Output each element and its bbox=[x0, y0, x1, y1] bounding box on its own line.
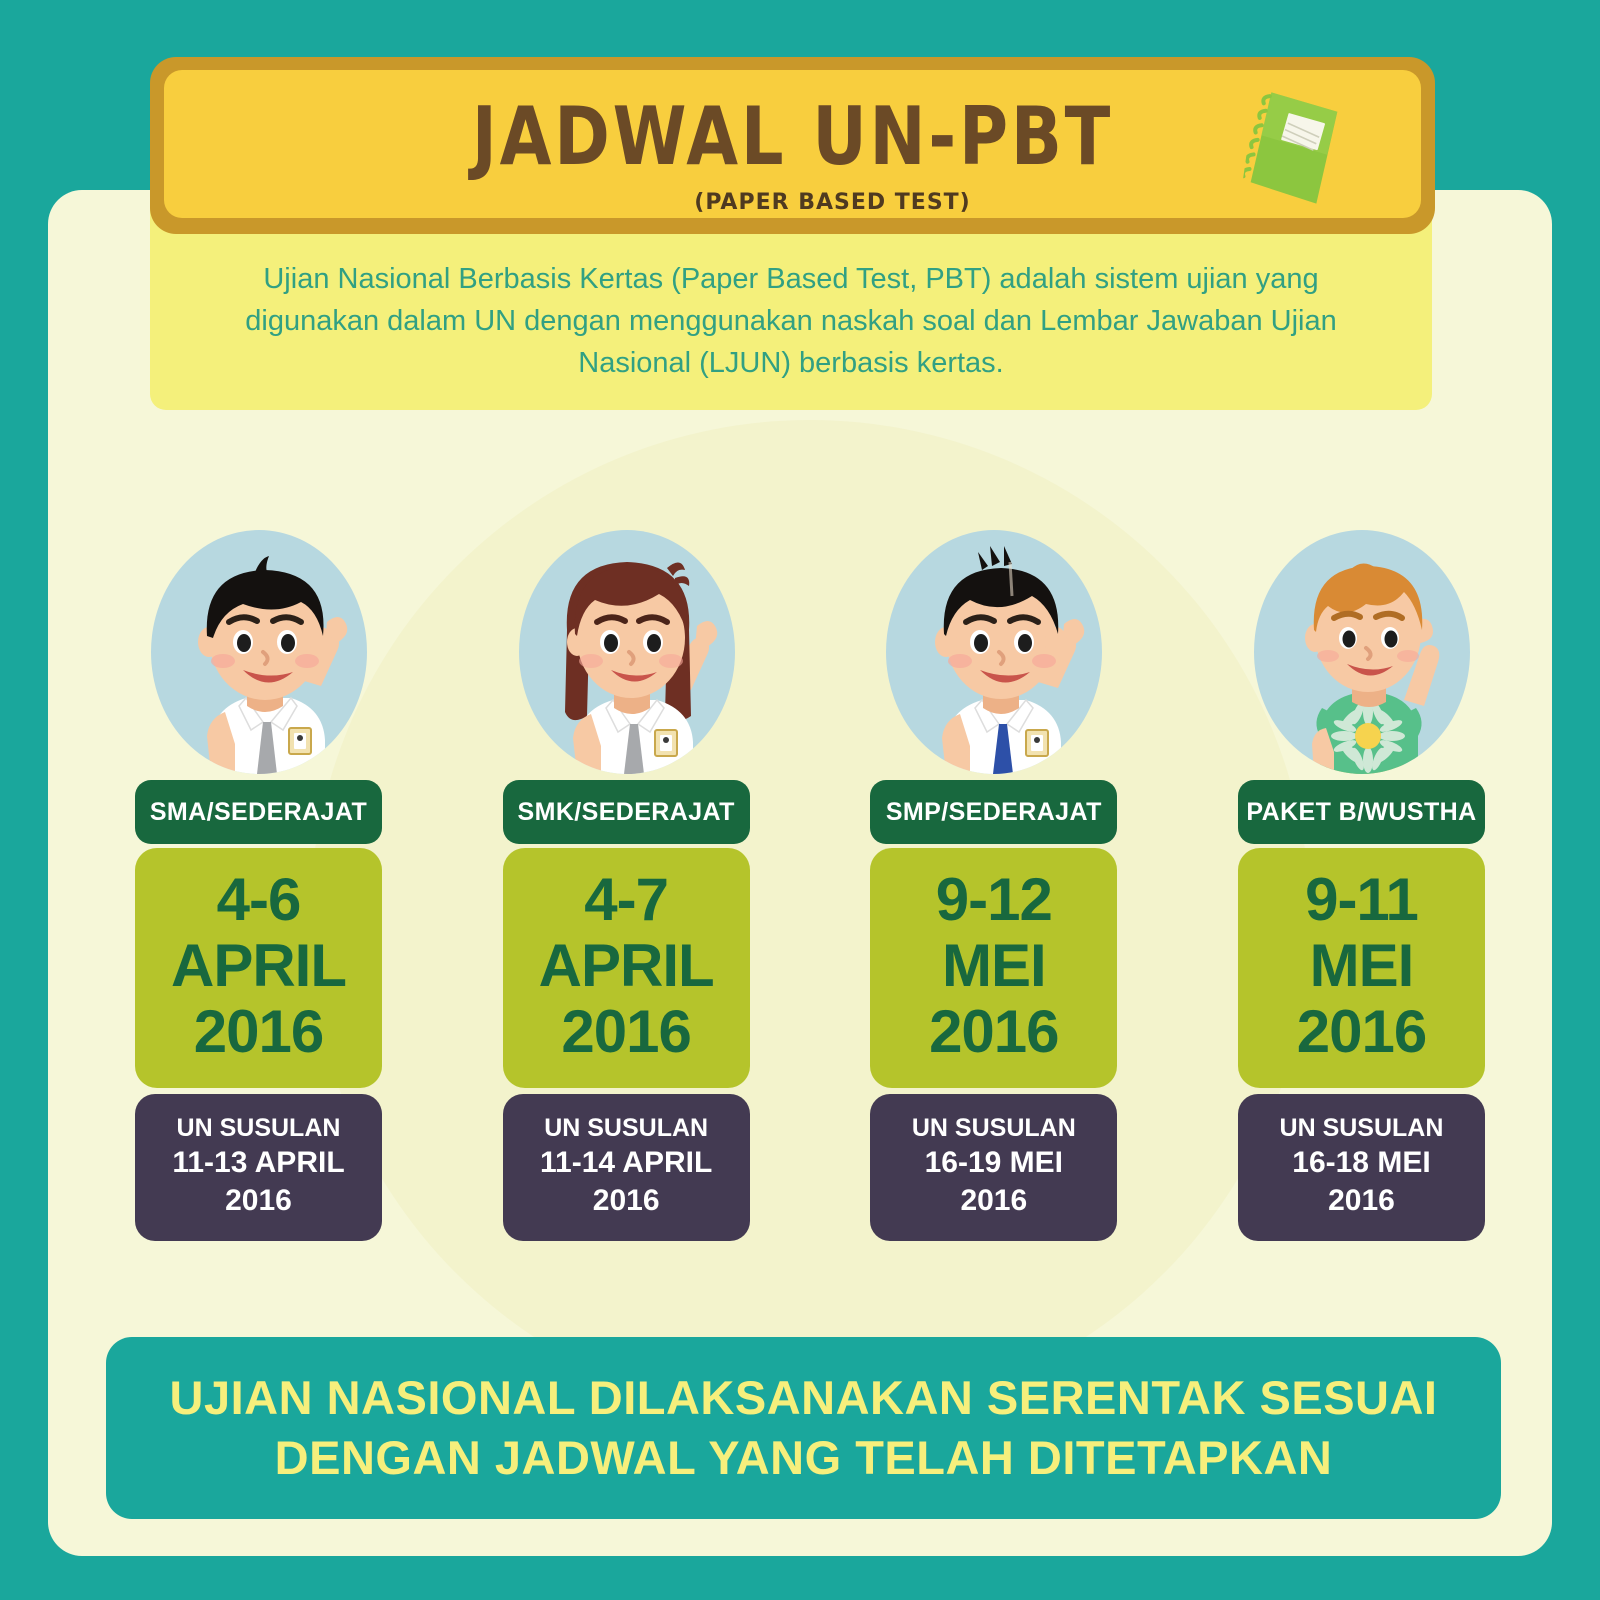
exam-date-box: 4-7 APRIL 2016 bbox=[503, 848, 750, 1088]
exam-date-month: MEI bbox=[1238, 936, 1485, 996]
exam-date-month: MEI bbox=[870, 936, 1117, 996]
avatar bbox=[870, 530, 1117, 778]
makeup-exam-box: UN SUSULAN 16-18 MEI 2016 bbox=[1238, 1094, 1485, 1241]
schedule-cards-row: SMA/SEDERAJAT 4-6 APRIL 2016 UN SUSULAN … bbox=[135, 530, 1485, 1241]
student-boy-black-hair-gray-tie-avatar bbox=[151, 530, 367, 774]
title-frame: JADWAL UN-PBT (PAPER BASED TEST) bbox=[150, 57, 1435, 234]
makeup-exam-box: UN SUSULAN 11-14 APRIL 2016 bbox=[503, 1094, 750, 1241]
makeup-exam-year: 2016 bbox=[503, 1182, 750, 1220]
exam-date-month: APRIL bbox=[503, 936, 750, 996]
level-badge: SMK/SEDERAJAT bbox=[503, 780, 750, 844]
exam-date-range: 4-6 bbox=[135, 870, 382, 930]
makeup-exam-box: UN SUSULAN 16-19 MEI 2016 bbox=[870, 1094, 1117, 1241]
exam-date-box: 9-12 MEI 2016 bbox=[870, 848, 1117, 1088]
exam-date-box: 4-6 APRIL 2016 bbox=[135, 848, 382, 1088]
footer-banner: UJIAN NASIONAL DILAKSANAKAN SERENTAK SES… bbox=[106, 1337, 1501, 1519]
makeup-exam-date: 11-14 APRIL bbox=[503, 1144, 750, 1182]
exam-date-year: 2016 bbox=[870, 1002, 1117, 1062]
footer-line-2: DENGAN JADWAL YANG TELAH DITETAPKAN bbox=[275, 1428, 1333, 1488]
schedule-card-sma: SMA/SEDERAJAT 4-6 APRIL 2016 UN SUSULAN … bbox=[135, 530, 382, 1241]
level-badge: SMA/SEDERAJAT bbox=[135, 780, 382, 844]
makeup-exam-label: UN SUSULAN bbox=[135, 1112, 382, 1144]
exam-date-year: 2016 bbox=[1238, 1002, 1485, 1062]
exam-date-range: 9-12 bbox=[870, 870, 1117, 930]
student-boy-black-hair-blue-tie-avatar bbox=[886, 530, 1102, 774]
makeup-exam-label: UN SUSULAN bbox=[503, 1112, 750, 1144]
exam-date-year: 2016 bbox=[503, 1002, 750, 1062]
main-panel: Ujian Nasional Berbasis Kertas (Paper Ba… bbox=[48, 190, 1552, 1556]
child-ginger-hair-green-flower-shirt-avatar bbox=[1254, 530, 1470, 774]
page-subtitle: (PAPER BASED TEST) bbox=[164, 190, 1421, 215]
exam-date-year: 2016 bbox=[135, 1002, 382, 1062]
schedule-card-smp: SMP/SEDERAJAT 9-12 MEI 2016 UN SUSULAN 1… bbox=[870, 530, 1117, 1241]
makeup-exam-year: 2016 bbox=[1238, 1182, 1485, 1220]
schedule-card-paket-b: PAKET B/WUSTHA 9-11 MEI 2016 UN SUSULAN … bbox=[1238, 530, 1485, 1241]
level-badge: SMP/SEDERAJAT bbox=[870, 780, 1117, 844]
makeup-exam-year: 2016 bbox=[870, 1182, 1117, 1220]
notebook-icon bbox=[1240, 82, 1348, 212]
avatar bbox=[135, 530, 382, 778]
makeup-exam-label: UN SUSULAN bbox=[870, 1112, 1117, 1144]
schedule-card-smk: SMK/SEDERAJAT 4-7 APRIL 2016 UN SUSULAN … bbox=[503, 530, 750, 1241]
makeup-exam-date: 11-13 APRIL bbox=[135, 1144, 382, 1182]
title-bar: JADWAL UN-PBT (PAPER BASED TEST) bbox=[164, 70, 1421, 218]
student-girl-brown-hair-gray-tie-avatar bbox=[519, 530, 735, 774]
makeup-exam-date: 16-19 MEI bbox=[870, 1144, 1117, 1182]
footer-line-1: UJIAN NASIONAL DILAKSANAKAN SERENTAK SES… bbox=[170, 1368, 1438, 1428]
makeup-exam-year: 2016 bbox=[135, 1182, 382, 1220]
makeup-exam-label: UN SUSULAN bbox=[1238, 1112, 1485, 1144]
page-title: JADWAL UN-PBT bbox=[208, 89, 1377, 183]
avatar bbox=[503, 530, 750, 778]
exam-date-range: 9-11 bbox=[1238, 870, 1485, 930]
exam-date-month: APRIL bbox=[135, 936, 382, 996]
makeup-exam-date: 16-18 MEI bbox=[1238, 1144, 1485, 1182]
description-text: Ujian Nasional Berbasis Kertas (Paper Ba… bbox=[210, 258, 1372, 384]
exam-date-box: 9-11 MEI 2016 bbox=[1238, 848, 1485, 1088]
level-badge: PAKET B/WUSTHA bbox=[1238, 780, 1485, 844]
makeup-exam-box: UN SUSULAN 11-13 APRIL 2016 bbox=[135, 1094, 382, 1241]
exam-date-range: 4-7 bbox=[503, 870, 750, 930]
avatar bbox=[1238, 530, 1485, 778]
